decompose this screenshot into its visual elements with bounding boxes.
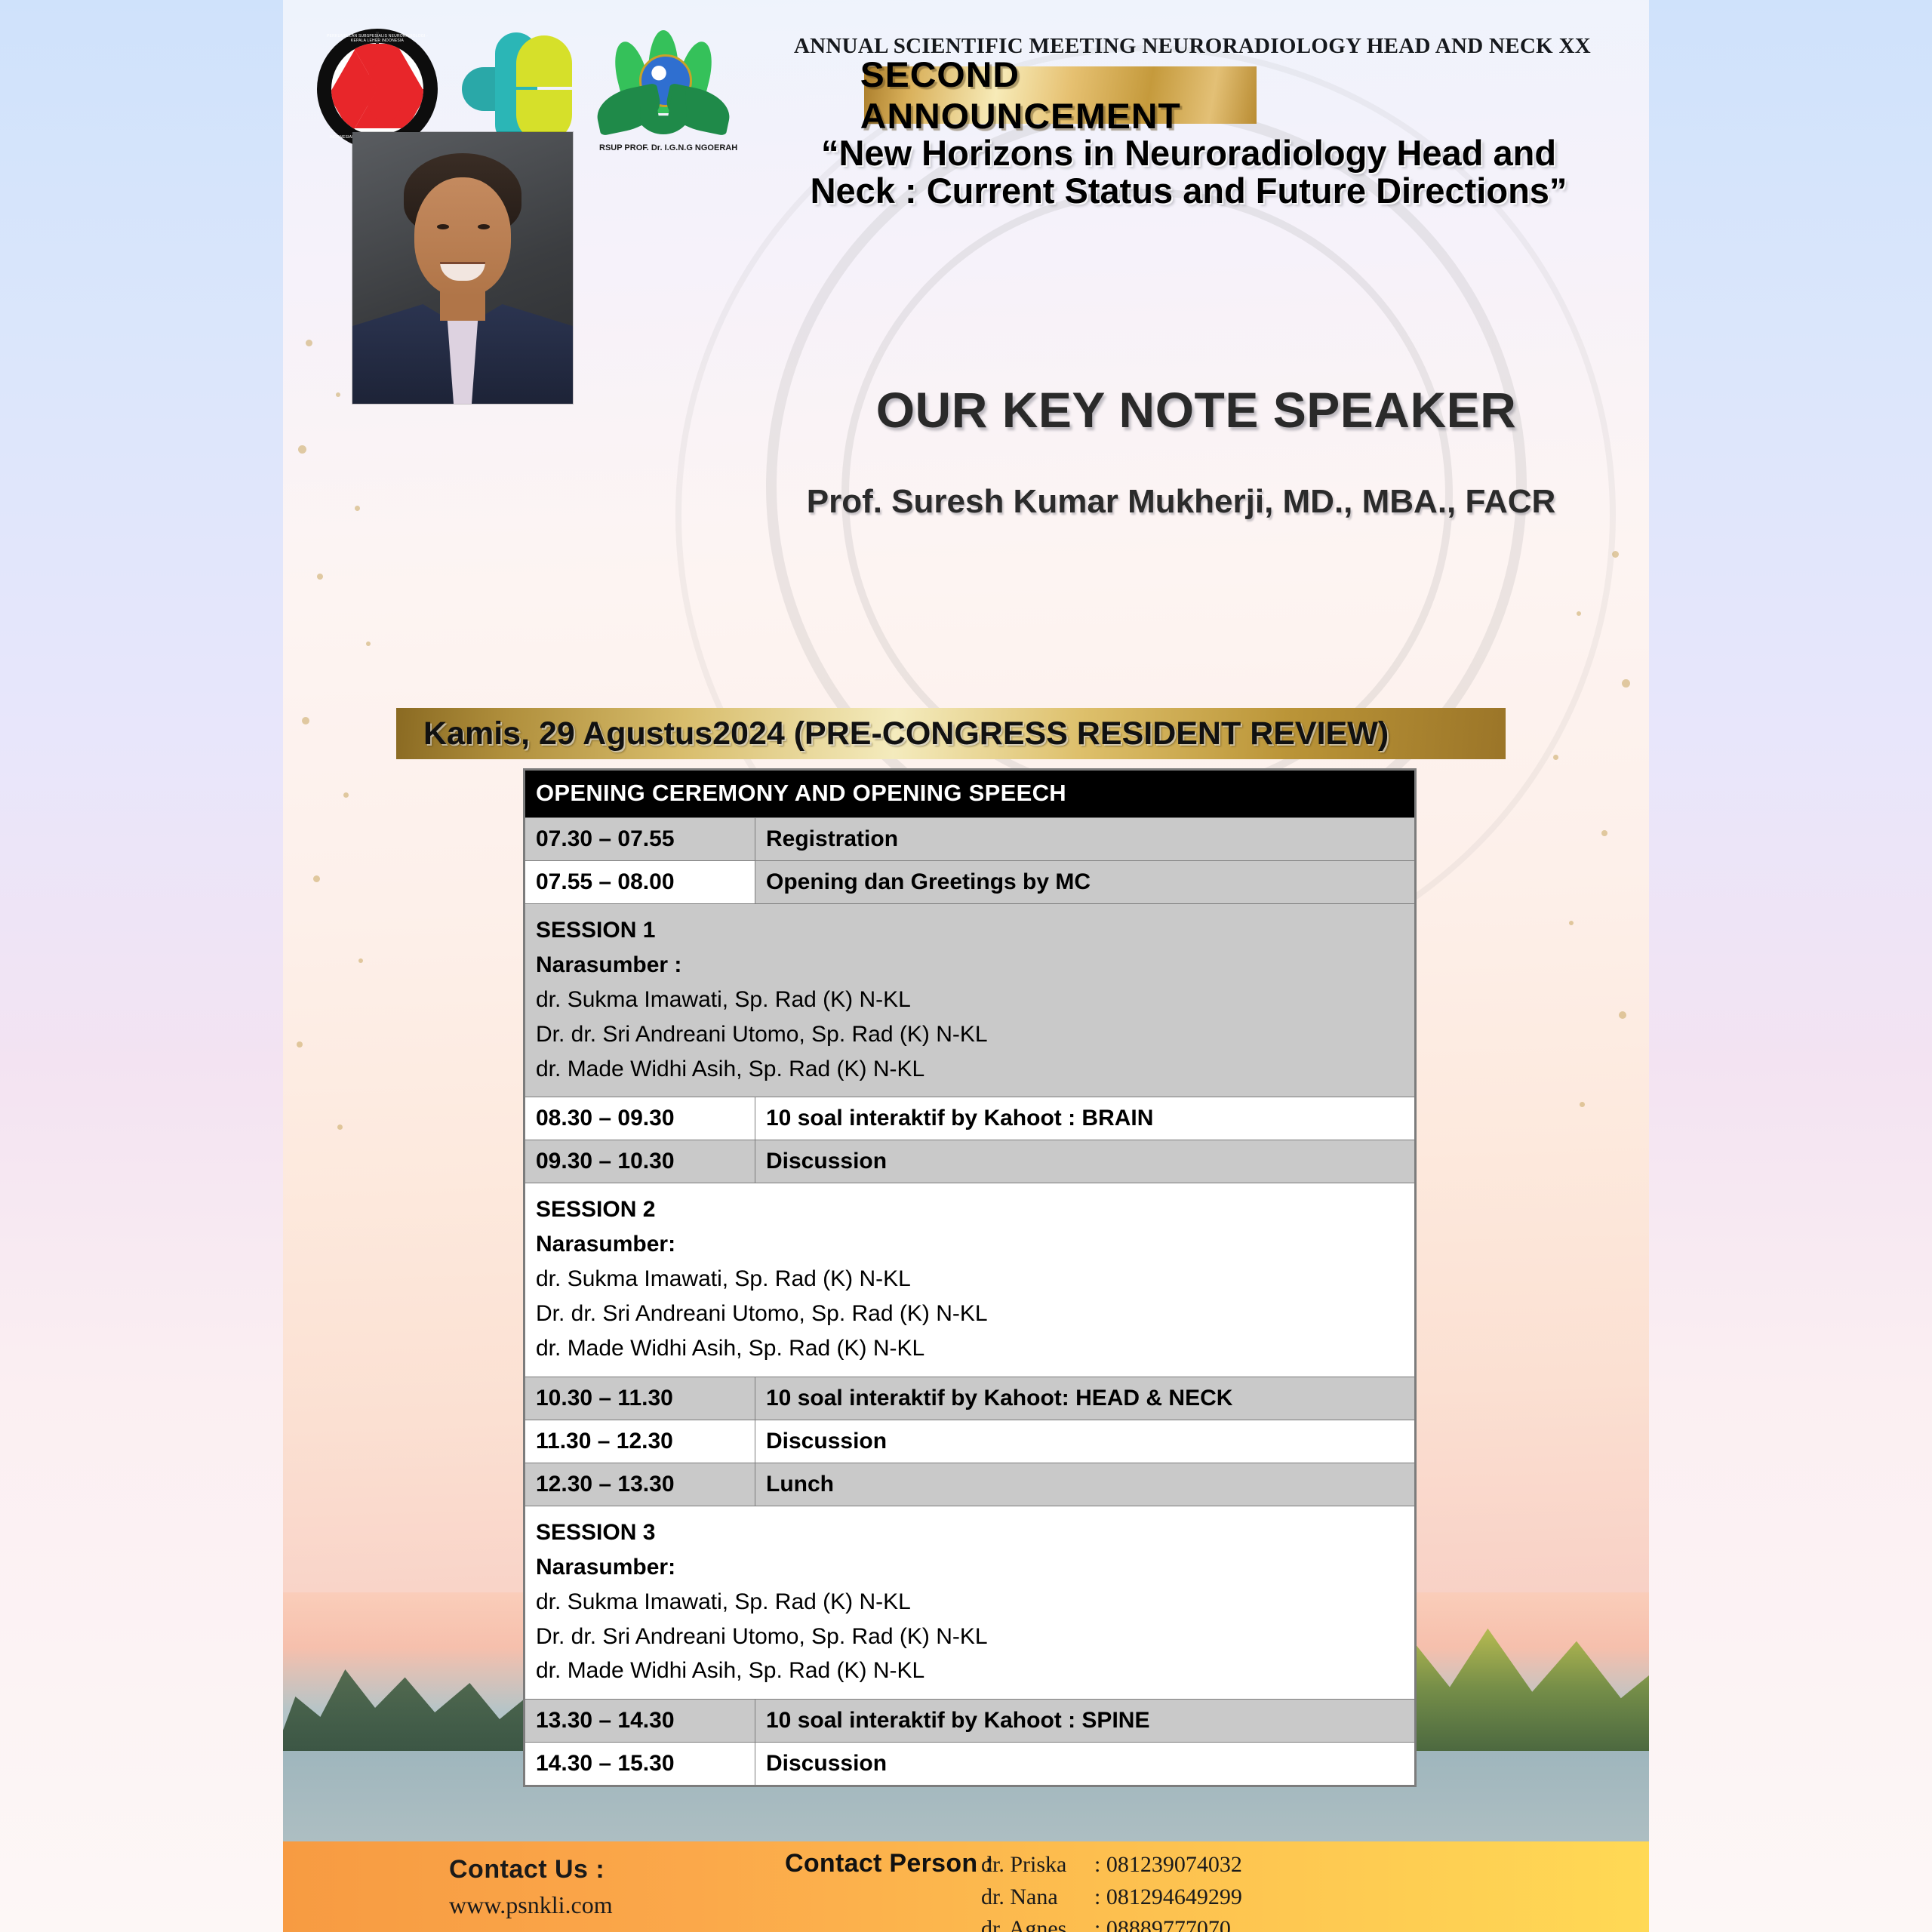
schedule-time-cell: 09.30 – 10.30 — [525, 1140, 755, 1183]
contact-person-phone: : 081239074032 — [1094, 1849, 1242, 1881]
schedule-row: 14.30 – 15.30Discussion — [525, 1743, 1415, 1786]
schedule-time-cell: 13.30 – 14.30 — [525, 1700, 755, 1743]
date-banner-label: Kamis, 29 Agustus2024 (PRE-CONGRESS RESI… — [396, 715, 1389, 752]
schedule-activity-cell: 10 soal interaktif by Kahoot : SPINE — [755, 1700, 1415, 1743]
schedule-row: 12.30 – 13.30Lunch — [525, 1463, 1415, 1506]
schedule-section-header: OPENING CEREMONY AND OPENING SPEECH — [525, 771, 1415, 818]
session-subtitle: Narasumber : — [536, 948, 1414, 983]
session-title: SESSION 1 — [536, 913, 1414, 948]
schedule-table: OPENING CEREMONY AND OPENING SPEECH07.30… — [525, 770, 1415, 1786]
contact-person-phone: : 081294649299 — [1094, 1881, 1242, 1914]
contact-person-name: dr. Nana — [981, 1881, 1094, 1914]
schedule-row: 11.30 – 12.30Discussion — [525, 1420, 1415, 1463]
society-logo-top-text: PERKUMPULAN SUBSPESIALIS NEURORADIOLOGI … — [317, 34, 438, 43]
schedule-time-cell: 11.30 – 12.30 — [525, 1420, 755, 1463]
schedule-time-cell: 12.30 – 13.30 — [525, 1463, 755, 1506]
contact-person-row: dr. Priska: 081239074032 — [981, 1849, 1242, 1881]
session-title: SESSION 2 — [536, 1192, 1414, 1227]
date-banner: Kamis, 29 Agustus2024 (PRE-CONGRESS RESI… — [396, 708, 1506, 759]
confetti-dots-left — [283, 325, 419, 1230]
schedule-time-cell: 07.55 – 08.00 — [525, 861, 755, 904]
theme-line-1: “New Horizons in Neuroradiology Head and — [751, 134, 1626, 172]
session-block: SESSION 1Narasumber :dr. Sukma Imawati, … — [525, 904, 1415, 1097]
session-speaker: dr. Sukma Imawati, Sp. Rad (K) N-KL — [536, 1585, 1414, 1620]
second-announcement-label: SECOND ANNOUNCEMENT — [860, 54, 1260, 137]
session-speaker: dr. Made Widhi Asih, Sp. Rad (K) N-KL — [536, 1052, 1414, 1087]
schedule-row: 07.30 – 07.55Registration — [525, 818, 1415, 861]
keynote-speaker-photo — [352, 132, 573, 404]
hospital-logo-caption: RSUP PROF. Dr. I.G.N.G NGOERAH — [599, 143, 728, 152]
neuroradiology-society-logo: PERKUMPULAN SUBSPESIALIS NEURORADIOLOGI … — [317, 29, 438, 149]
footer-bar: Contact Us : www.psnkli.com Contact Pers… — [283, 1841, 1649, 1932]
contact-person-row: dr. Agnes: 08889777070 — [981, 1913, 1242, 1932]
schedule-row: 07.55 – 08.00Opening dan Greetings by MC — [525, 861, 1415, 904]
session-block-row: SESSION 3Narasumber:dr. Sukma Imawati, S… — [525, 1506, 1415, 1699]
logo-row: PERKUMPULAN SUBSPESIALIS NEURORADIOLOGI … — [317, 29, 728, 149]
schedule-activity-cell: Discussion — [755, 1420, 1415, 1463]
schedule-activity-cell: Registration — [755, 818, 1415, 861]
theme-title: “New Horizons in Neuroradiology Head and… — [751, 134, 1626, 211]
schedule-time-cell: 08.30 – 09.30 — [525, 1097, 755, 1140]
session-speaker: Dr. dr. Sri Andreani Utomo, Sp. Rad (K) … — [536, 1620, 1414, 1654]
schedule-row: 10.30 – 11.3010 soal interaktif by Kahoo… — [525, 1377, 1415, 1420]
schedule-activity-cell: Discussion — [755, 1140, 1415, 1183]
session-block: SESSION 2Narasumber:dr. Sukma Imawati, S… — [525, 1183, 1415, 1377]
session-speaker: dr. Sukma Imawati, Sp. Rad (K) N-KL — [536, 1262, 1414, 1297]
schedule-time-cell: 10.30 – 11.30 — [525, 1377, 755, 1420]
schedule-activity-cell: 10 soal interaktif by Kahoot : BRAIN — [755, 1097, 1415, 1140]
schedule-row: 09.30 – 10.30Discussion — [525, 1140, 1415, 1183]
session-title: SESSION 3 — [536, 1515, 1414, 1550]
schedule-activity-cell: Opening dan Greetings by MC — [755, 861, 1415, 904]
session-subtitle: Narasumber: — [536, 1550, 1414, 1585]
schedule-activity-cell: Discussion — [755, 1743, 1415, 1786]
keynote-heading: OUR KEY NOTE SPEAKER — [766, 381, 1626, 438]
schedule-row: 08.30 – 09.3010 soal interaktif by Kahoo… — [525, 1097, 1415, 1140]
poster-canvas: PERKUMPULAN SUBSPESIALIS NEURORADIOLOGI … — [283, 0, 1649, 1932]
second-announcement-banner: SECOND ANNOUNCEMENT — [864, 66, 1257, 124]
contact-person-list: dr. Priska: 081239074032dr. Nana: 081294… — [981, 1849, 1242, 1932]
website-link[interactable]: www.psnkli.com — [449, 1891, 613, 1919]
hospital-logo: RSUP PROF. Dr. I.G.N.G NGOERAH — [599, 29, 728, 149]
session-block-row: SESSION 1Narasumber :dr. Sukma Imawati, … — [525, 904, 1415, 1097]
contact-person-name: dr. Agnes — [981, 1913, 1094, 1932]
theme-line-2: Neck : Current Status and Future Directi… — [751, 172, 1626, 210]
contact-person-name: dr. Priska — [981, 1849, 1094, 1881]
session-speaker: dr. Sukma Imawati, Sp. Rad (K) N-KL — [536, 983, 1414, 1017]
contact-person-label: Contact Person : — [785, 1849, 994, 1878]
schedule-row: 13.30 – 14.3010 soal interaktif by Kahoo… — [525, 1700, 1415, 1743]
session-speaker: dr. Made Widhi Asih, Sp. Rad (K) N-KL — [536, 1331, 1414, 1366]
schedule-time-cell: 14.30 – 15.30 — [525, 1743, 755, 1786]
session-speaker: Dr. dr. Sri Andreani Utomo, Sp. Rad (K) … — [536, 1017, 1414, 1052]
schedule-section-header-row: OPENING CEREMONY AND OPENING SPEECH — [525, 771, 1415, 818]
session-speaker: Dr. dr. Sri Andreani Utomo, Sp. Rad (K) … — [536, 1297, 1414, 1331]
schedule-activity-cell: Lunch — [755, 1463, 1415, 1506]
schedule-activity-cell: 10 soal interaktif by Kahoot: HEAD & NEC… — [755, 1377, 1415, 1420]
pin-clover-logo — [462, 32, 575, 146]
contact-us-label: Contact Us : — [449, 1855, 605, 1884]
session-block: SESSION 3Narasumber:dr. Sukma Imawati, S… — [525, 1506, 1415, 1699]
session-subtitle: Narasumber: — [536, 1227, 1414, 1262]
contact-person-row: dr. Nana: 081294649299 — [981, 1881, 1242, 1914]
keynote-speaker-name: Prof. Suresh Kumar Mukherji, MD., MBA., … — [736, 483, 1626, 521]
contact-person-phone: : 08889777070 — [1094, 1913, 1231, 1932]
session-speaker: dr. Made Widhi Asih, Sp. Rad (K) N-KL — [536, 1654, 1414, 1688]
schedule-time-cell: 07.30 – 07.55 — [525, 818, 755, 861]
session-block-row: SESSION 2Narasumber:dr. Sukma Imawati, S… — [525, 1183, 1415, 1377]
